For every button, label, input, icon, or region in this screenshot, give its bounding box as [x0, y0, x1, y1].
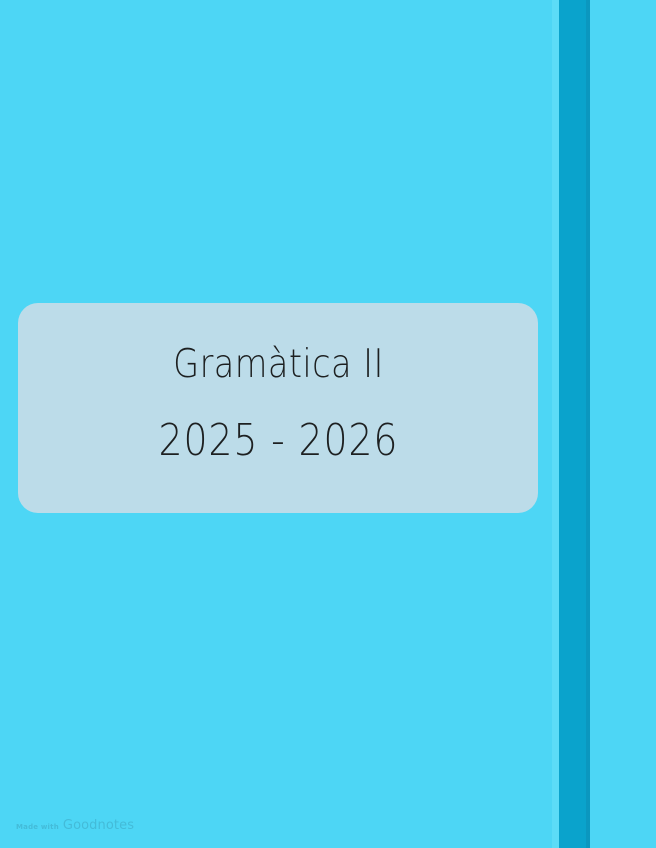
- spine-edge-line: [586, 0, 590, 848]
- page-title: Gramàtica II: [173, 344, 384, 387]
- page-subtitle-years: 2025 - 2026: [158, 417, 398, 465]
- goodnotes-watermark: Made with Goodnotes: [16, 818, 134, 833]
- notebook-cover-page: Gramàtica II 2025 - 2026 Made with Goodn…: [0, 0, 656, 848]
- watermark-brand-label: Goodnotes: [63, 818, 134, 833]
- watermark-prefix-label: Made with: [16, 823, 59, 831]
- spine-highlight: [552, 0, 559, 848]
- notebook-spine-band: [559, 0, 589, 848]
- title-label-card[interactable]: Gramàtica II 2025 - 2026: [18, 303, 538, 513]
